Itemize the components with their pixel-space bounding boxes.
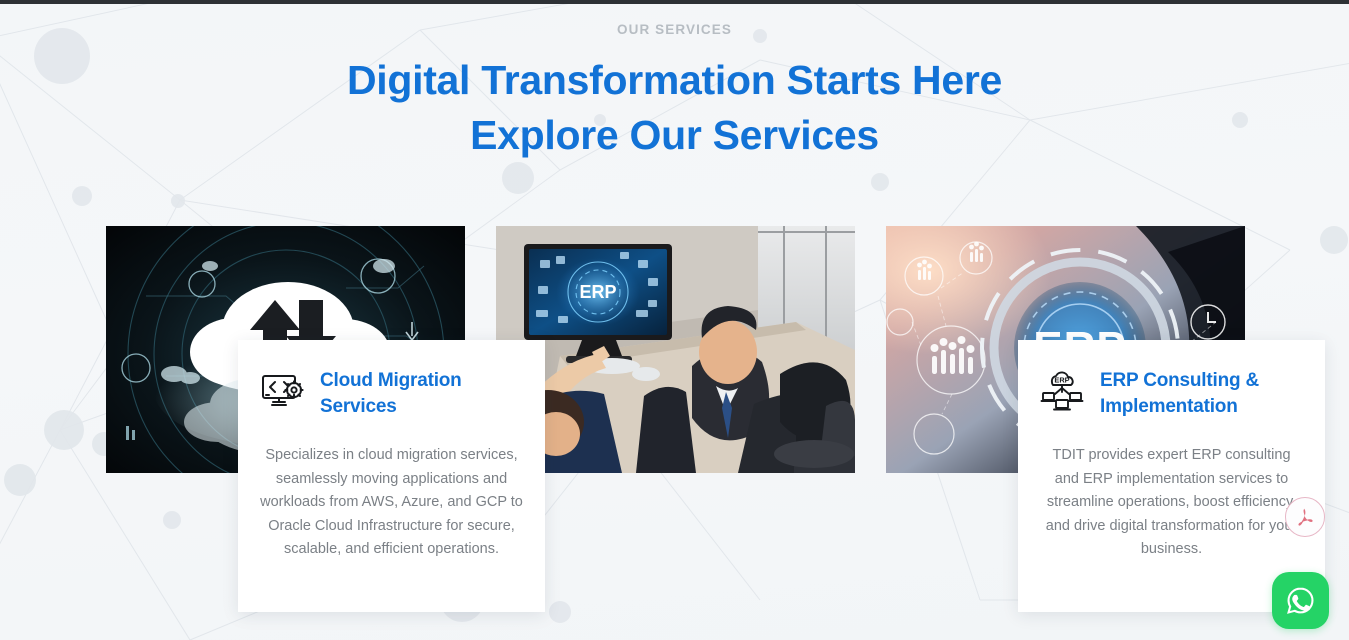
services-card-row: Cloud Migration Services Specializes in … <box>0 226 1349 626</box>
headline-line-2: Explore Our Services <box>0 108 1349 163</box>
erp-consulting-photo: ERP <box>496 226 855 473</box>
section-header: OUR SERVICES Digital Transformation Star… <box>0 0 1349 163</box>
page-title: Digital Transformation Starts Here Explo… <box>0 53 1349 163</box>
service-description: Specializes in cloud migration services,… <box>260 444 523 561</box>
service-card-panel-cloud-migration: Cloud Migration Services Specializes in … <box>238 340 545 612</box>
panel-heading-row: Cloud Migration Services <box>260 366 523 420</box>
section-eyebrow: OUR SERVICES <box>0 22 1349 37</box>
panel-heading-row: ERP ERP Consulting & Implementation <box>1040 366 1303 420</box>
headline-line-1: Digital Transformation Starts Here <box>0 53 1349 108</box>
service-card-panel-erp-consulting: ERP ERP Consulting & Implementation TDIT… <box>1018 340 1325 612</box>
service-description: TDIT provides expert ERP consulting and … <box>1040 444 1303 561</box>
browser-chrome-strip <box>0 0 1349 4</box>
svg-text:ERP: ERP <box>579 282 616 302</box>
service-title: Cloud Migration Services <box>320 366 523 420</box>
pdf-acrobat-icon <box>1294 506 1316 528</box>
monitor-code-gear-icon <box>260 368 306 414</box>
service-title: ERP Consulting & Implementation <box>1100 366 1303 420</box>
services-page: OUR SERVICES Digital Transformation Star… <box>0 0 1349 640</box>
service-card-erp-consulting[interactable]: ERP <box>496 226 855 473</box>
svg-text:ERP: ERP <box>1054 376 1069 385</box>
pdf-download-button[interactable] <box>1285 497 1325 537</box>
whatsapp-chat-button[interactable] <box>1272 572 1329 629</box>
erp-cloud-network-icon: ERP <box>1040 368 1086 414</box>
service-card-cloud-migration[interactable]: Cloud Migration Services Specializes in … <box>106 226 465 473</box>
whatsapp-icon <box>1284 584 1317 617</box>
